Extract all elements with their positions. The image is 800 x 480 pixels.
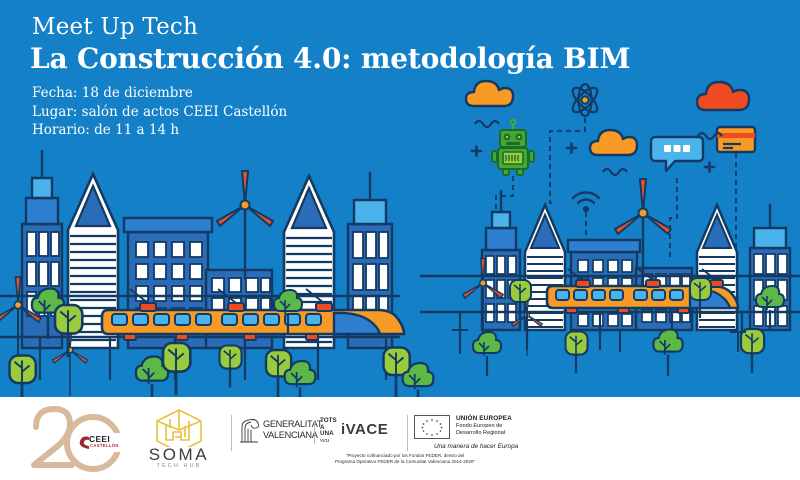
gva-tagline-3: veu bbox=[320, 437, 329, 444]
gva-line2: VALENCIANA bbox=[263, 430, 318, 440]
gva-tagline-2: A UNA bbox=[320, 424, 334, 438]
soma-logo[interactable]: SOMA TECH HUB bbox=[137, 407, 221, 473]
credit-card-icon bbox=[717, 127, 755, 152]
event-date: Fecha: 18 de diciembre bbox=[32, 84, 630, 103]
gva-tagline: TOTS A UNA bbox=[320, 418, 338, 438]
event-time: Horario: de 11 a 14 h bbox=[32, 121, 630, 140]
divider bbox=[231, 415, 232, 451]
ivace-logo[interactable]: iVACE bbox=[341, 421, 401, 443]
fineprint-line1: "Proyecto cofinanciado por los Fondos FE… bbox=[346, 453, 464, 458]
soma-subbrand: TECH HUB bbox=[137, 463, 221, 469]
eu-flag-icon bbox=[414, 415, 450, 439]
eu-subtitle-1: Fondo Europeo de bbox=[456, 423, 502, 429]
eu-title: UNIÓN EUROPEA bbox=[456, 415, 512, 422]
ivace-brand: iVACE bbox=[341, 421, 388, 438]
divider bbox=[407, 415, 408, 451]
fineprint-line2: Programa Operativo FEDER de la Comunitat… bbox=[335, 459, 475, 464]
eu-subtitle-2: Desarrollo Regional bbox=[456, 430, 505, 436]
soma-brand: SOMA bbox=[137, 445, 221, 465]
eu-subtitle: Fondo Europeo de Desarrollo Regional bbox=[456, 423, 534, 436]
ceei-badge: CEEI CASTELLÓN bbox=[76, 433, 138, 452]
poster-text-block: Meet Up Tech La Construcción 4.0: metodo… bbox=[30, 14, 630, 140]
generalitat-valenciana-logo[interactable]: GENERALITAT VALENCIANA TOTS A UNA veu bbox=[238, 419, 338, 445]
divider bbox=[314, 420, 315, 444]
hero-section: Meet Up Tech La Construcción 4.0: metodo… bbox=[0, 0, 800, 397]
sponsor-footer: CEEI CASTELLÓN SOMA TECH HUB bbox=[0, 397, 800, 480]
event-headline: La Construcción 4.0: metodología BIM bbox=[30, 42, 630, 75]
union-europea-logo[interactable]: UNIÓN EUROPEA Fondo Europeo de Desarroll… bbox=[414, 415, 534, 455]
event-poster: Meet Up Tech La Construcción 4.0: metodo… bbox=[0, 0, 800, 480]
event-location: Lugar: salón de actos CEEI Castellón bbox=[32, 103, 630, 122]
funding-fineprint: "Proyecto cofinanciado por los Fondos FE… bbox=[290, 453, 520, 465]
eu-slogan: Una manera de hacer Europa bbox=[434, 443, 518, 450]
event-kicker: Meet Up Tech bbox=[32, 14, 630, 41]
ceei-20-logo[interactable]: CEEI CASTELLÓN bbox=[22, 403, 134, 473]
ceei-subbrand: CASTELLÓN bbox=[90, 443, 119, 448]
logo-row: CEEI CASTELLÓN SOMA TECH HUB bbox=[0, 397, 800, 480]
